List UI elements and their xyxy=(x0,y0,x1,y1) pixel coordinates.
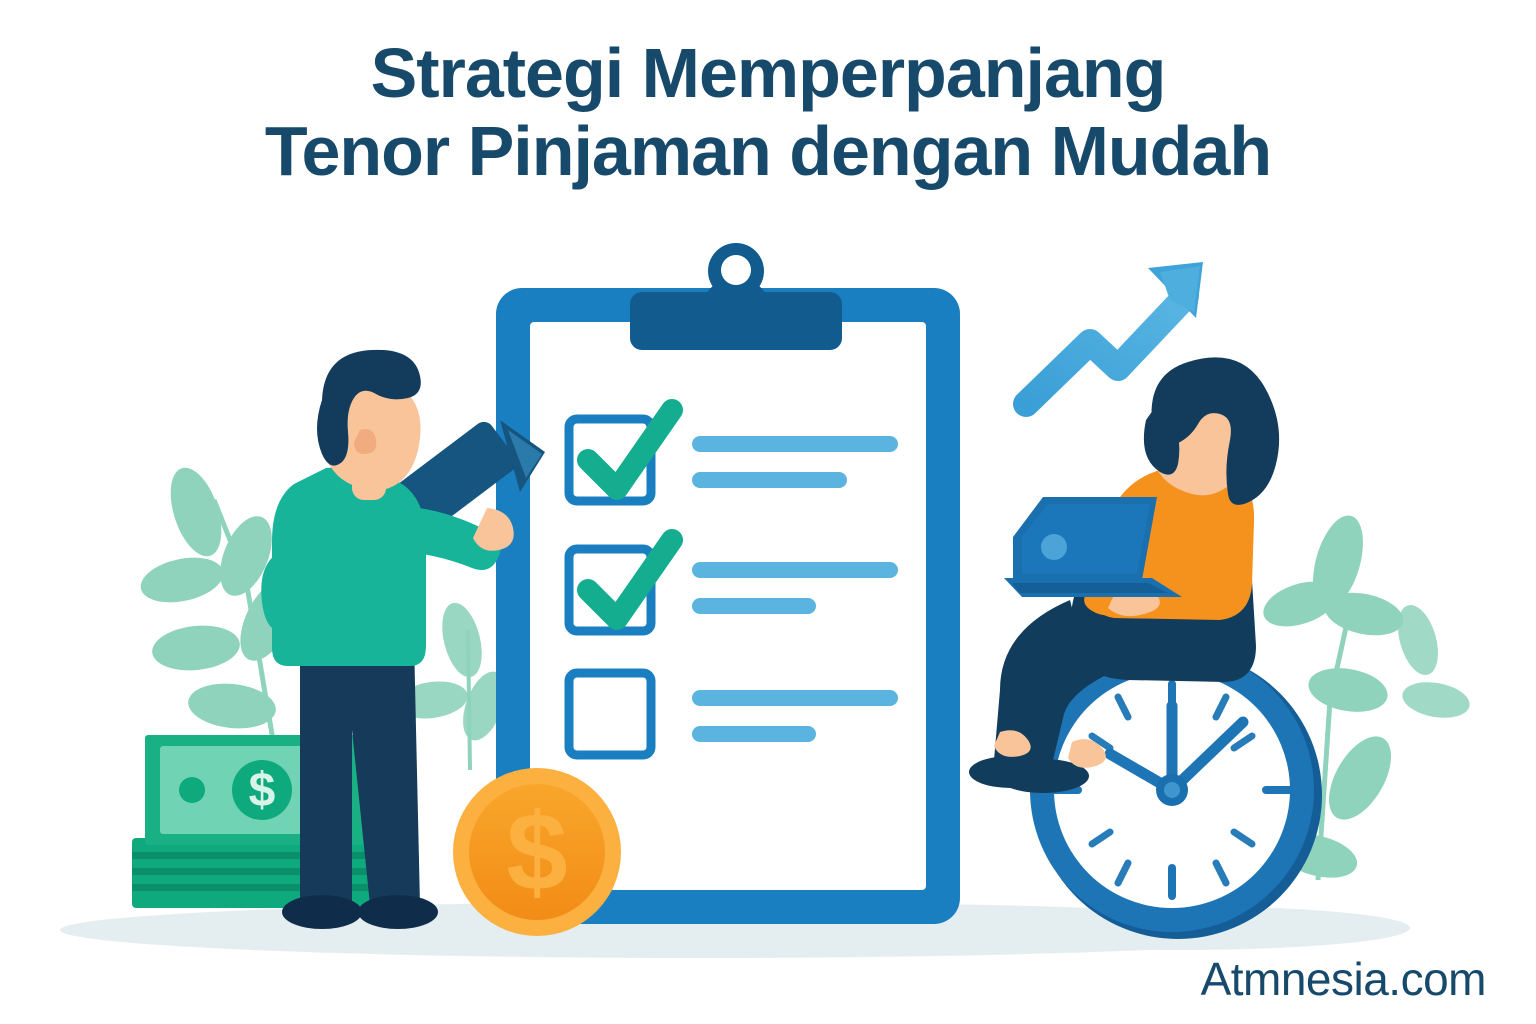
laptop-logo-icon xyxy=(1041,534,1067,560)
illustration-banner: $ xyxy=(0,0,1536,1024)
gold-dollar-coin: $ xyxy=(453,768,621,936)
watermark-text: Atmnesia.com xyxy=(1201,952,1486,1006)
clip-hole xyxy=(721,255,751,285)
money-dollar-symbol: $ xyxy=(249,764,276,817)
coin-dollar-symbol: $ xyxy=(506,791,567,914)
illustration-canvas: $ xyxy=(0,0,1536,1024)
